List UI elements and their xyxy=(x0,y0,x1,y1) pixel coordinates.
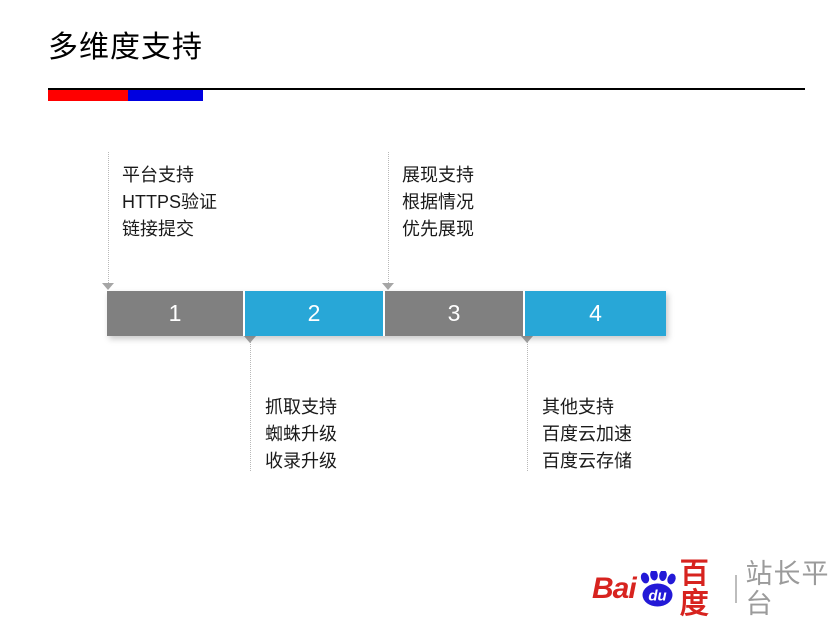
bar-segment-1[interactable]: 1 xyxy=(107,291,245,336)
callout-3-line-1: 展现支持 xyxy=(402,162,474,189)
callout-1-line-1: 平台支持 xyxy=(122,162,217,189)
callout-segment-1: 平台支持 HTTPS验证 链接提交 xyxy=(122,162,217,243)
callout-2-line-3: 收录升级 xyxy=(265,448,337,475)
callout-segment-3: 展现支持 根据情况 优先展现 xyxy=(402,162,474,243)
page-title: 多维度支持 xyxy=(48,28,203,68)
connector-arrow-segment-4 xyxy=(521,336,533,343)
connector-line-segment-4 xyxy=(527,336,528,471)
bar-segment-4[interactable]: 4 xyxy=(525,291,666,336)
callout-2-line-1: 抓取支持 xyxy=(265,394,337,421)
bar-segment-3[interactable]: 3 xyxy=(385,291,525,336)
callout-1-line-2: HTTPS验证 xyxy=(122,189,217,216)
baidu-wordmark-hanzi: 百度 xyxy=(680,559,725,619)
callout-1-line-3: 链接提交 xyxy=(122,216,217,243)
connector-line-segment-3 xyxy=(388,152,389,283)
segmented-bar: 1 2 3 4 xyxy=(107,291,666,336)
bar-segment-3-number: 3 xyxy=(448,300,461,327)
callout-3-line-2: 根据情况 xyxy=(402,189,474,216)
callout-2-line-2: 蜘蛛升级 xyxy=(265,421,337,448)
svg-text:du: du xyxy=(648,588,666,605)
baidu-paw-icon: du xyxy=(636,571,678,607)
connector-arrow-segment-3 xyxy=(382,283,394,290)
bar-segment-4-number: 4 xyxy=(589,300,602,327)
baidu-wordmark-latin: Bai xyxy=(592,574,636,604)
bar-segment-1-number: 1 xyxy=(169,300,182,327)
callout-4-line-1: 其他支持 xyxy=(542,394,632,421)
connector-arrow-segment-2 xyxy=(244,336,256,343)
accent-bar-red xyxy=(48,90,128,101)
callout-3-line-3: 优先展现 xyxy=(402,216,474,243)
callout-segment-4: 其他支持 百度云加速 百度云存储 xyxy=(542,394,632,475)
bar-segment-2-number: 2 xyxy=(308,300,321,327)
callout-4-line-3: 百度云存储 xyxy=(542,448,632,475)
callout-4-line-2: 百度云加速 xyxy=(542,421,632,448)
connector-arrow-segment-1 xyxy=(102,283,114,290)
accent-bar-blue xyxy=(128,90,203,101)
baidu-logo: Bai du 百度 站长平台 xyxy=(592,570,833,608)
logo-divider xyxy=(735,575,737,603)
connector-line-segment-2 xyxy=(250,336,251,471)
bar-segment-2[interactable]: 2 xyxy=(245,291,385,336)
callout-segment-2: 抓取支持 蜘蛛升级 收录升级 xyxy=(265,394,337,475)
baidu-sub-brand: 站长平台 xyxy=(746,559,833,619)
connector-line-segment-1 xyxy=(108,152,109,283)
